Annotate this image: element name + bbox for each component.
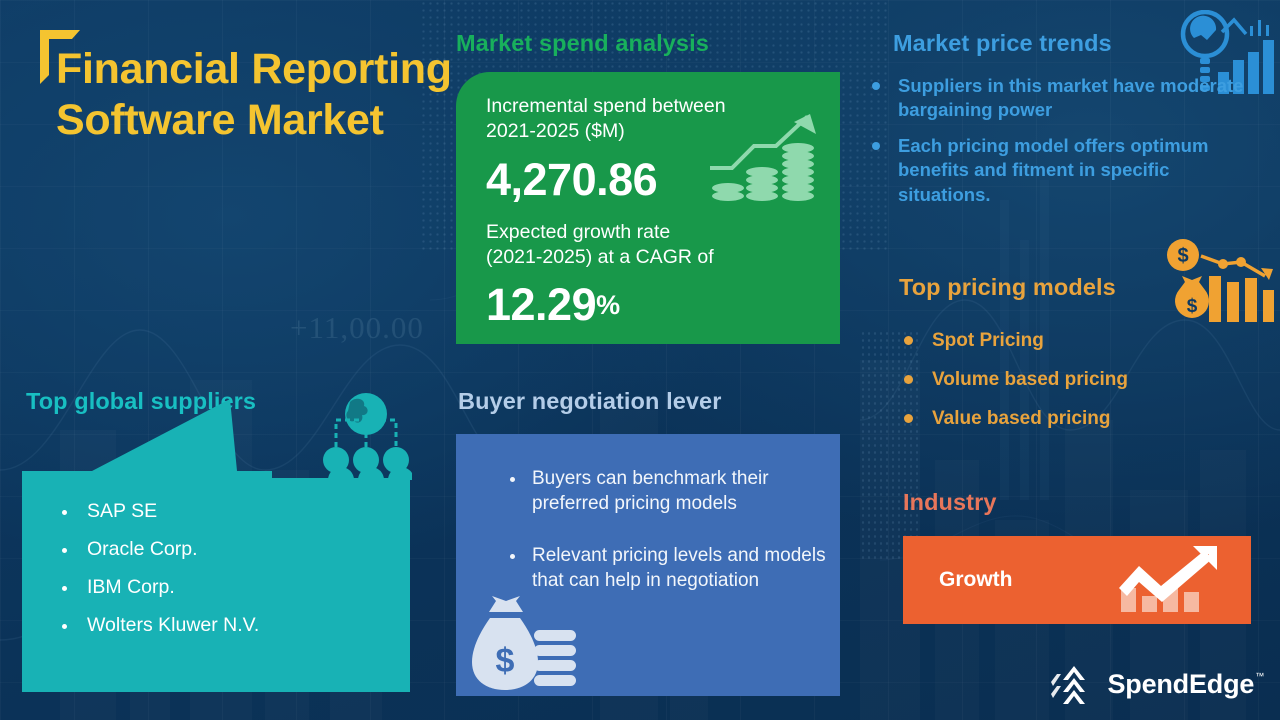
market-spend-heading: Market spend analysis — [456, 30, 709, 57]
price-trends-heading: Market price trends — [893, 30, 1112, 57]
list-item: Spot Pricing — [896, 330, 1236, 352]
page-title: Financial Reporting Software Market — [56, 44, 452, 145]
brand-name: SpendEdge™ — [1107, 669, 1264, 700]
logo-text-label: SpendEdge — [1107, 669, 1254, 699]
cagr-value: 12.29 — [486, 279, 596, 330]
cagr-label: Expected growth rate (2021-2025) at a CA… — [486, 220, 714, 269]
list-item: Buyers can benchmark their preferred pri… — [486, 466, 826, 517]
suppliers-card: SAP SE Oracle Corp. IBM Corp. Wolters Kl… — [22, 478, 410, 692]
globe-network-icon — [320, 392, 412, 484]
price-trends-bullet-list: Suppliers in this market have moderate b… — [866, 74, 1266, 218]
pricing-models-heading: Top pricing models — [899, 274, 1116, 301]
infographic-slide: +11,00.00 Financial Reporting Software M… — [0, 0, 1280, 720]
industry-growth-badge: Growth — [903, 536, 1251, 624]
growth-arrow-chart-icon — [1117, 544, 1235, 616]
svg-text:$: $ — [1177, 245, 1188, 267]
spendedge-chevron-logo-icon — [1051, 664, 1097, 704]
buyer-lever-bullet-list: Buyers can benchmark their preferred pri… — [486, 466, 826, 620]
list-item: Each pricing model offers optimum benefi… — [866, 134, 1266, 207]
status-badge: Growth — [939, 568, 1013, 592]
money-declining-chart-icon: $ $ — [1165, 238, 1277, 326]
cagr-value-row: 12.29% — [486, 279, 620, 331]
brand-logo: SpendEdge™ — [1051, 664, 1264, 704]
list-item: Relevant pricing levels and models that … — [486, 543, 826, 594]
list-item: Volume based pricing — [896, 369, 1236, 391]
list-item: SAP SE — [40, 500, 259, 523]
svg-text:$: $ — [1187, 296, 1198, 317]
list-item: Oracle Corp. — [40, 538, 259, 561]
cagr-percent-sign: % — [596, 290, 620, 320]
list-item: Wolters Kluwer N.V. — [40, 614, 259, 637]
industry-heading: Industry — [903, 489, 997, 516]
market-spend-card: Incremental spend between 2021-2025 ($M)… — [456, 72, 840, 344]
list-item: IBM Corp. — [40, 576, 259, 599]
svg-text:$: $ — [496, 642, 515, 680]
coins-growth-icon — [710, 112, 820, 208]
buyer-lever-heading: Buyer negotiation lever — [458, 388, 721, 415]
trademark-symbol: ™ — [1255, 671, 1264, 681]
title-block: Financial Reporting Software Market — [38, 44, 452, 145]
suppliers-callout-pointer — [22, 399, 272, 481]
list-item: Value based pricing — [896, 408, 1236, 430]
incremental-spend-label: Incremental spend between 2021-2025 ($M) — [486, 94, 726, 143]
suppliers-list: SAP SE Oracle Corp. IBM Corp. Wolters Kl… — [40, 500, 259, 652]
buyer-lever-card: $ Buyers can benchmark their preferred p… — [456, 434, 840, 696]
list-item: Suppliers in this market have moderate b… — [866, 74, 1266, 123]
incremental-spend-value: 4,270.86 — [486, 154, 657, 206]
background-watermark-text: +11,00.00 — [290, 310, 424, 346]
pricing-models-bullet-list: Spot Pricing Volume based pricing Value … — [896, 330, 1236, 447]
